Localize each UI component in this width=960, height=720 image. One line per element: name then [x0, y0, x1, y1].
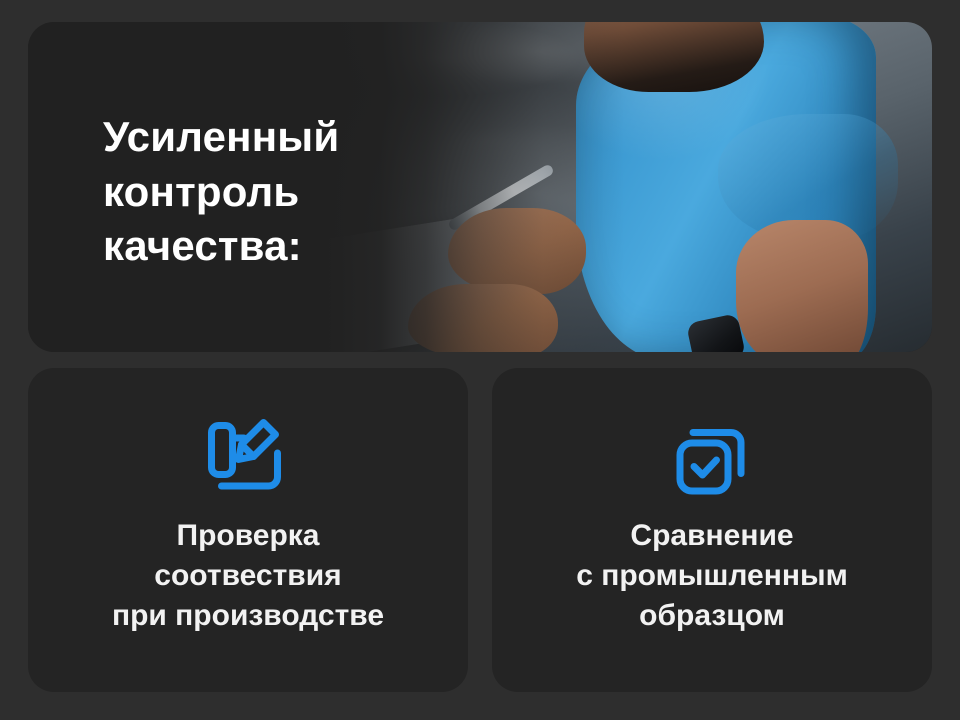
feature-card-sample-comparison[interactable]: Сравнение с промышленным образцом: [492, 368, 932, 692]
hero-title: Усиленный контроль качества:: [103, 110, 433, 274]
feature-label-sample-comparison: Сравнение с промышленным образцом: [564, 516, 860, 636]
document-edit-icon: [205, 412, 291, 498]
feature-card-quality-check[interactable]: Проверка соотвествия при производстве: [28, 368, 468, 692]
feature-card-row: Проверка соотвествия при производстве Ср…: [28, 368, 932, 692]
feature-label-quality-check: Проверка соотвествия при производстве: [100, 516, 396, 636]
hero-card: Усиленный контроль качества:: [28, 22, 932, 352]
slide-canvas: Усиленный контроль качества: Проверка со…: [0, 0, 960, 720]
compare-check-icon: [669, 412, 755, 498]
